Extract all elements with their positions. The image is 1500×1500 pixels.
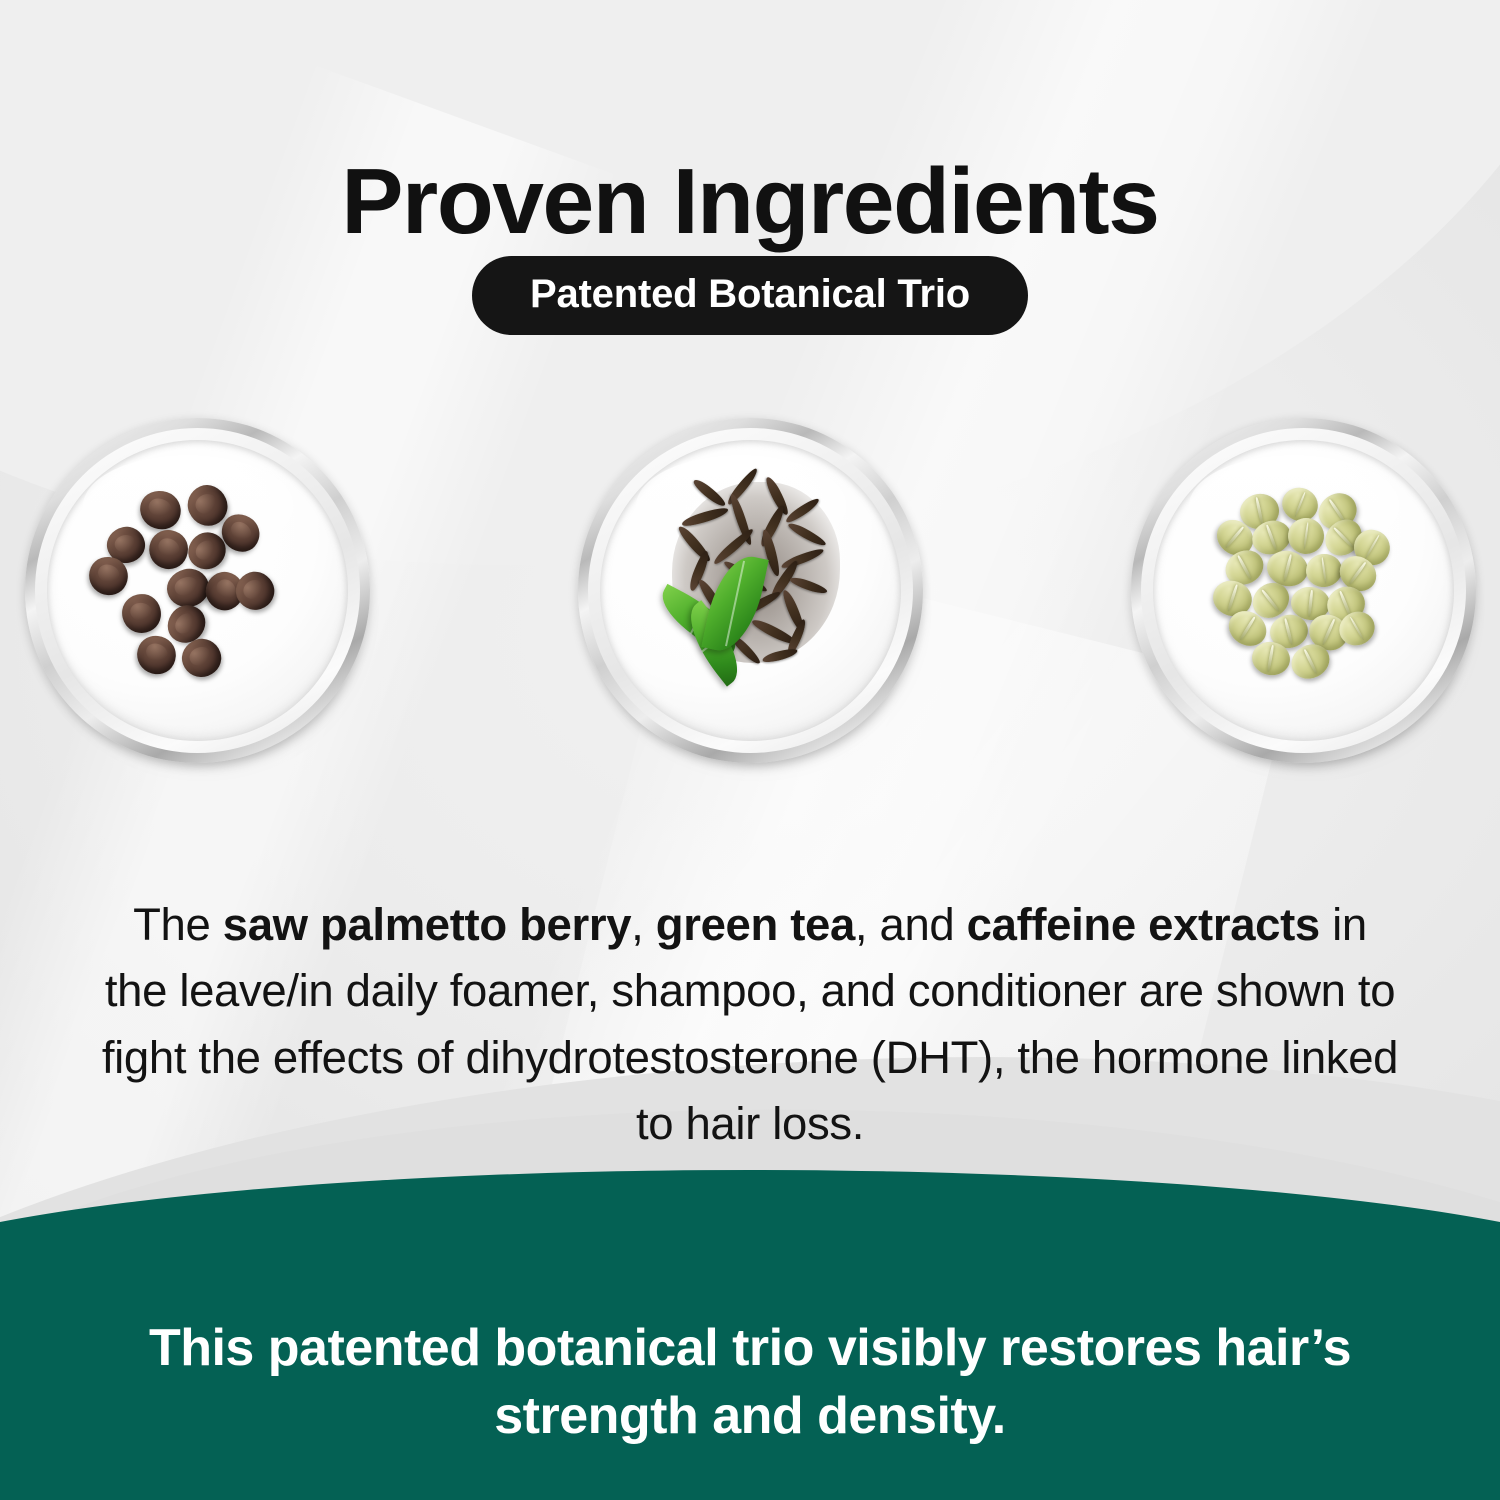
body-text-mid2: , and (855, 899, 967, 950)
petri-dish-saw-palmetto-berries-icon (25, 418, 370, 763)
status-badge: Patented Botanical Trio (472, 256, 1028, 335)
green-coffee-bean-cluster (1153, 440, 1454, 741)
dish-inner-surface (47, 440, 348, 741)
body-bold-green-tea: green tea (656, 899, 855, 950)
body-paragraph: The saw palmetto berry, green tea, and c… (96, 892, 1404, 1159)
dish-inner-surface (600, 440, 901, 741)
saw-palmetto-berry-cluster (47, 440, 348, 741)
petri-dish-green-tea-leaves-icon (578, 418, 923, 763)
proven-ingredients-poster: Proven Ingredients Patented Botanical Tr… (0, 0, 1500, 1500)
body-bold-saw-palmetto: saw palmetto berry (223, 899, 631, 950)
page-title: Proven Ingredients (0, 154, 1500, 249)
footer-claim-text: This patented botanical trio visibly res… (120, 1315, 1380, 1450)
ingredient-dish-row (0, 418, 1500, 778)
body-text-pre: The (133, 899, 223, 950)
dried-tea-leaf-pile (600, 440, 901, 741)
badge-container: Patented Botanical Trio (0, 256, 1500, 335)
dish-inner-surface (1153, 440, 1454, 741)
body-bold-caffeine-extracts: caffeine extracts (967, 899, 1320, 950)
body-text-mid1: , (631, 899, 656, 950)
petri-dish-green-coffee-beans-icon (1131, 418, 1476, 763)
